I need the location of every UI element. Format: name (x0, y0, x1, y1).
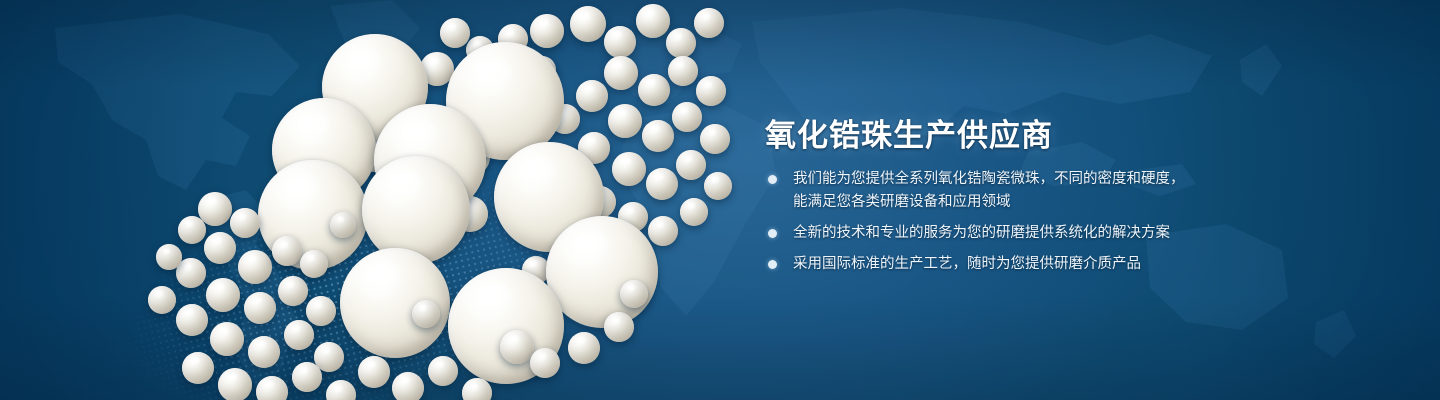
bullet-dot-icon (768, 260, 777, 269)
list-item-line: 我们能为您提供全系列氧化锆陶瓷微珠，不同的密度和硬度， (793, 168, 1384, 191)
list-item-line: 全新的技术和专业的服务为您的研磨提供系统化的解决方案 (793, 222, 1384, 245)
feature-list: 我们能为您提供全系列氧化锆陶瓷微珠，不同的密度和硬度， 能满足您各类研磨设备和应… (768, 168, 1384, 276)
list-item: 采用国际标准的生产工艺，随时为您提供研磨介质产品 (768, 253, 1384, 276)
zirconia-beads-image (0, 0, 780, 400)
product-banner: 氧化锆珠生产供应商 我们能为您提供全系列氧化锆陶瓷微珠，不同的密度和硬度， 能满… (0, 0, 1440, 400)
list-item-line: 采用国际标准的生产工艺，随时为您提供研磨介质产品 (793, 253, 1384, 276)
list-item: 我们能为您提供全系列氧化锆陶瓷微珠，不同的密度和硬度， 能满足您各类研磨设备和应… (768, 168, 1384, 214)
bullet-dot-icon (768, 175, 777, 184)
bullet-dot-icon (768, 229, 777, 238)
banner-copy: 氧化锆珠生产供应商 我们能为您提供全系列氧化锆陶瓷微珠，不同的密度和硬度， 能满… (765, 0, 1385, 400)
page-title: 氧化锆珠生产供应商 (765, 110, 1053, 155)
list-item-line: 能满足您各类研磨设备和应用领域 (793, 191, 1384, 214)
list-item: 全新的技术和专业的服务为您的研磨提供系统化的解决方案 (768, 222, 1384, 245)
